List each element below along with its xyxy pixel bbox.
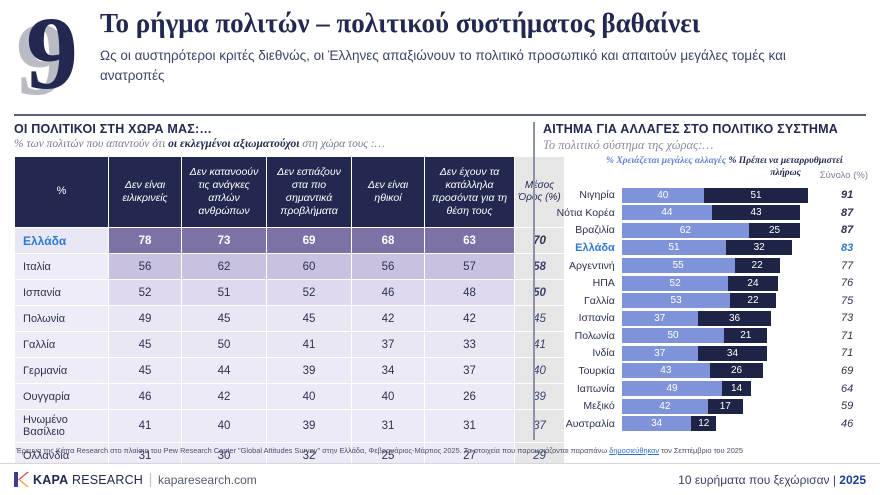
right-panel-subtitle: Το πολιτικό σύστημα της χώρας:… (543, 138, 868, 153)
table-cell-value: 46 (109, 384, 182, 410)
table-cell-value: 48 (425, 280, 515, 306)
bar-segment-full-reform: 36 (698, 311, 772, 326)
bar-track: 5021 (622, 328, 826, 343)
bar-segment-full-reform: 43 (712, 205, 800, 220)
table-cell-value: 49 (109, 306, 182, 332)
table-cell-value: 52 (109, 280, 182, 306)
table-cell-country: Ελλάδα (15, 228, 109, 254)
bar-segment-full-reform: 32 (726, 240, 792, 255)
bar-segment-full-reform: 51 (704, 188, 809, 203)
bar-row: Αργεντινή552277 (543, 257, 868, 273)
footnote-pre: Έρευνα της Κάπα Research στο πλαίσιο του… (16, 446, 609, 455)
bar-segment-major-changes: 43 (622, 363, 710, 378)
footer-caption: 10 ευρήματα που ξεχώρισαν | 2025 (678, 473, 866, 487)
bar-segment-full-reform: 12 (691, 416, 716, 431)
bar-total: 59 (826, 400, 868, 412)
table-cell-value: 31 (352, 410, 425, 443)
table-cell-value: 44 (182, 358, 267, 384)
bar-row: Ιαπωνία491464 (543, 380, 868, 396)
footnote-post: τον Σεπτέμβριο του 2025 (659, 446, 743, 455)
bar-segment-major-changes: 37 (622, 346, 698, 361)
table-cell-value: 51 (182, 280, 267, 306)
bar-segment-major-changes: 37 (622, 311, 698, 326)
kappa-logo-icon (14, 472, 29, 487)
bar-label: Αυστραλία (543, 418, 622, 430)
table-cell-country: Ηνωμένο Βασίλειο (15, 410, 109, 443)
bar-label: Τουρκία (543, 365, 622, 377)
bar-total: 46 (826, 418, 868, 430)
stacked-bar-chart: Νιγηρία405191Νότια Κορέα444387Βραζιλία62… (543, 187, 868, 432)
bar-track: 3412 (622, 416, 826, 431)
bar-total: 87 (826, 224, 868, 236)
table-cell-country: Ισπανία (15, 280, 109, 306)
content-area: ΟΙ ΠΟΛΙΤΙΚΟΙ ΣΤΗ ΧΩΡΑ ΜΑΣ:… % των πολιτώ… (0, 118, 880, 495)
left-panel-title: ΟΙ ΠΟΛΙΤΙΚΟΙ ΣΤΗ ΧΩΡΑ ΜΑΣ:… (14, 122, 526, 136)
table-cell-value: 40 (182, 410, 267, 443)
bar-segment-major-changes: 53 (622, 293, 731, 308)
bar-row: Ισπανία373673 (543, 310, 868, 326)
table-cell-value: 50 (182, 332, 267, 358)
table-cell-country: Γερμανία (15, 358, 109, 384)
bar-total: 71 (826, 347, 868, 359)
brand-lockup: KAPA RESEARCH kaparesearch.com (14, 472, 257, 487)
left-subtitle-bold: οι εκλεγμένοι αξιωματούχοι (168, 138, 299, 150)
bar-segment-major-changes: 62 (622, 223, 749, 238)
bar-segment-full-reform: 25 (749, 223, 800, 238)
table-cell-country: Πολωνία (15, 306, 109, 332)
table-cell-value: 26 (425, 384, 515, 410)
table-row: Ουγγαρία464240402639 (15, 384, 565, 410)
bar-track: 6225 (622, 223, 826, 238)
table-row: Ιταλία566260565758 (15, 254, 565, 280)
table-cell-value: 56 (352, 254, 425, 280)
left-subtitle-pre: % των πολιτών που απαντούν ότι (14, 138, 168, 150)
bar-track: 4914 (622, 381, 826, 396)
bar-row: Νότια Κορέα444387 (543, 205, 868, 221)
legend-item-needs-major-changes: % Χρειάζεται μεγάλες αλλαγές (606, 155, 726, 167)
bar-label: Αργεντινή (543, 260, 622, 272)
col-header-5: Δεν έχουν τα κατάλληλα προσόντα για τη θ… (425, 157, 515, 228)
bar-track: 5224 (622, 276, 826, 291)
bar-label: Ελλάδα (543, 242, 622, 254)
table-cell-value: 69 (267, 228, 352, 254)
col-header-1: Δεν είναι ειλικρινείς (109, 157, 182, 228)
bar-label: Ισπανία (543, 312, 622, 324)
table-cell-value: 46 (352, 280, 425, 306)
bar-segment-major-changes: 52 (622, 276, 729, 291)
col-header-pct: % (15, 157, 109, 228)
bar-track: 4443 (622, 205, 826, 220)
table-cell-value: 56 (109, 254, 182, 280)
bar-track: 3736 (622, 311, 826, 326)
table-row: Ισπανία525152464850 (15, 280, 565, 306)
bar-row: Γαλλία532275 (543, 292, 868, 308)
politicians-table: % Δεν είναι ειλικρινείς Δεν κατανοούν τι… (14, 156, 565, 495)
bar-label: ΗΠΑ (543, 277, 622, 289)
source-footnote: Έρευνα της Κάπα Research στο πλαίσιο του… (16, 446, 864, 456)
brand-name-bold: KAPA (33, 473, 68, 487)
bar-total: 75 (826, 295, 868, 307)
table-cell-country: Ουγγαρία (15, 384, 109, 410)
left-subtitle-post: στη χώρα τους :… (299, 138, 384, 150)
table-cell-value: 45 (267, 306, 352, 332)
table-cell-value: 34 (352, 358, 425, 384)
page-subtitle: Ως οι αυστηρότεροι κριτές διεθνώς, οι Έλ… (100, 46, 835, 87)
footer-bar: KAPA RESEARCH kaparesearch.com 10 ευρήμα… (0, 464, 880, 495)
col-header-2: Δεν κατανοούν τις ανάγκες απλών ανθρώπων (182, 157, 267, 228)
bar-row: ΗΠΑ522476 (543, 275, 868, 291)
bar-segment-full-reform: 34 (698, 346, 768, 361)
footnote-link[interactable]: δημοσιεύθηκαν (609, 446, 659, 455)
right-panel-title: ΑΙΤΗΜΑ ΓΙΑ ΑΛΛΑΓΕΣ ΣΤΟ ΠΟΛΙΤΙΚΟ ΣΥΣΤΗΜΑ (543, 122, 868, 136)
header-divider (14, 114, 866, 116)
bar-row: Βραζιλία622587 (543, 222, 868, 238)
table-row: Ελλάδα787369686370 (15, 228, 565, 254)
bar-segment-major-changes: 42 (622, 399, 708, 414)
table-cell-value: 60 (267, 254, 352, 280)
bar-track: 3734 (622, 346, 826, 361)
bar-segment-full-reform: 26 (710, 363, 763, 378)
bar-segment-major-changes: 34 (622, 416, 692, 431)
col-header-3: Δεν εστιάζουν στα πιο σημαντικά προβλήμα… (267, 157, 352, 228)
bar-total: 73 (826, 312, 868, 324)
bar-total: 77 (826, 260, 868, 272)
table-cell-value: 52 (267, 280, 352, 306)
col-header-4: Δεν είναι ηθικοί (352, 157, 425, 228)
bar-segment-major-changes: 40 (622, 188, 704, 203)
bar-row: Μεξικό421759 (543, 398, 868, 414)
bar-label: Ιαπωνία (543, 383, 622, 395)
table-cell-value: 33 (425, 332, 515, 358)
table-cell-value: 45 (182, 306, 267, 332)
chart-legend: % Χρειάζεται μεγάλες αλλαγές % Πρέπει να… (543, 155, 868, 185)
bar-total: 91 (826, 189, 868, 201)
table-cell-value: 68 (352, 228, 425, 254)
bar-segment-full-reform: 22 (730, 293, 775, 308)
bar-track: 4326 (622, 363, 826, 378)
table-cell-value: 63 (425, 228, 515, 254)
brand-name: KAPA RESEARCH (33, 473, 143, 487)
table-cell-value: 57 (425, 254, 515, 280)
table-cell-value: 42 (352, 306, 425, 332)
slide-number: 9 9 (8, 0, 100, 106)
table-row: Γερμανία454439343740 (15, 358, 565, 384)
table-cell-value: 73 (182, 228, 267, 254)
bar-segment-major-changes: 51 (622, 240, 727, 255)
bar-label: Γαλλία (543, 295, 622, 307)
table-cell-value: 42 (425, 306, 515, 332)
table-cell-value: 37 (425, 358, 515, 384)
table-cell-value: 62 (182, 254, 267, 280)
bar-total: 69 (826, 365, 868, 377)
bar-row: Ινδία373471 (543, 345, 868, 361)
bar-row: Νιγηρία405191 (543, 187, 868, 203)
bar-label: Νότια Κορέα (543, 207, 622, 219)
bar-total: 64 (826, 383, 868, 395)
bar-label: Πολωνία (543, 330, 622, 342)
table-cell-value: 42 (182, 384, 267, 410)
bar-row: Τουρκία432669 (543, 363, 868, 379)
bar-track: 4217 (622, 399, 826, 414)
bar-segment-full-reform: 24 (728, 276, 777, 291)
bar-track: 5132 (622, 240, 826, 255)
bar-row: Αυστραλία341246 (543, 416, 868, 432)
left-panel-subtitle: % των πολιτών που απαντούν ότι οι εκλεγμ… (14, 138, 526, 150)
bar-label: Ινδία (543, 347, 622, 359)
table-cell-country: Γαλλία (15, 332, 109, 358)
table-row: Ηνωμένο Βασίλειο414039313137 (15, 410, 565, 443)
table-cell-value: 39 (267, 410, 352, 443)
table-cell-value: 45 (109, 332, 182, 358)
footer-caption-text: 10 ευρήματα που ξεχώρισαν | (678, 473, 839, 487)
bar-segment-full-reform: 14 (722, 381, 751, 396)
bar-segment-major-changes: 49 (622, 381, 722, 396)
table-cell-country: Ιταλία (15, 254, 109, 280)
footer-caption-year: 2025 (839, 473, 866, 487)
table-row: Πολωνία494545424245 (15, 306, 565, 332)
bar-label: Νιγηρία (543, 189, 622, 201)
bar-row: Ελλάδα513283 (543, 240, 868, 256)
table-cell-value: 37 (352, 332, 425, 358)
bar-track: 4051 (622, 188, 826, 203)
bar-segment-full-reform: 22 (735, 258, 780, 273)
legend-item-total: Σύνολο (%) (820, 170, 868, 181)
bar-total: 71 (826, 330, 868, 342)
table-cell-value: 45 (109, 358, 182, 384)
slide-number-text: 9 (26, 2, 78, 106)
brand-separator (150, 473, 151, 487)
bar-total: 76 (826, 277, 868, 289)
bar-segment-full-reform: 17 (708, 399, 743, 414)
bar-segment-major-changes: 50 (622, 328, 725, 343)
left-panel: ΟΙ ΠΟΛΙΤΙΚΟΙ ΣΤΗ ΧΩΡΑ ΜΑΣ:… % των πολιτώ… (14, 118, 526, 495)
brand-url[interactable]: kaparesearch.com (158, 473, 257, 487)
bar-label: Βραζιλία (543, 224, 622, 236)
bar-row: Πολωνία502171 (543, 328, 868, 344)
bar-total: 83 (826, 242, 868, 254)
bar-label: Μεξικό (543, 400, 622, 412)
bar-segment-full-reform: 21 (724, 328, 767, 343)
bar-track: 5322 (622, 293, 826, 308)
page-header: 9 9 Το ρήγμα πολιτών – πολιτικού συστήμα… (0, 0, 880, 108)
table-cell-value: 40 (267, 384, 352, 410)
table-row: Γαλλία455041373341 (15, 332, 565, 358)
table-cell-value: 41 (109, 410, 182, 443)
right-panel: ΑΙΤΗΜΑ ΓΙΑ ΑΛΛΑΓΕΣ ΣΤΟ ΠΟΛΙΤΙΚΟ ΣΥΣΤΗΜΑ … (543, 118, 868, 433)
panel-divider (533, 122, 535, 440)
bar-track: 5522 (622, 258, 826, 273)
table-cell-value: 40 (352, 384, 425, 410)
table-cell-value: 78 (109, 228, 182, 254)
table-cell-value: 41 (267, 332, 352, 358)
brand-name-rest: RESEARCH (68, 473, 143, 487)
page-title: Το ρήγμα πολιτών – πολιτικού συστήματος … (100, 8, 866, 39)
bar-total: 87 (826, 207, 868, 219)
table-cell-value: 31 (425, 410, 515, 443)
table-header-row: % Δεν είναι ειλικρινείς Δεν κατανοούν τι… (15, 157, 565, 228)
bar-segment-major-changes: 44 (622, 205, 712, 220)
table-cell-value: 39 (267, 358, 352, 384)
bar-segment-major-changes: 55 (622, 258, 735, 273)
